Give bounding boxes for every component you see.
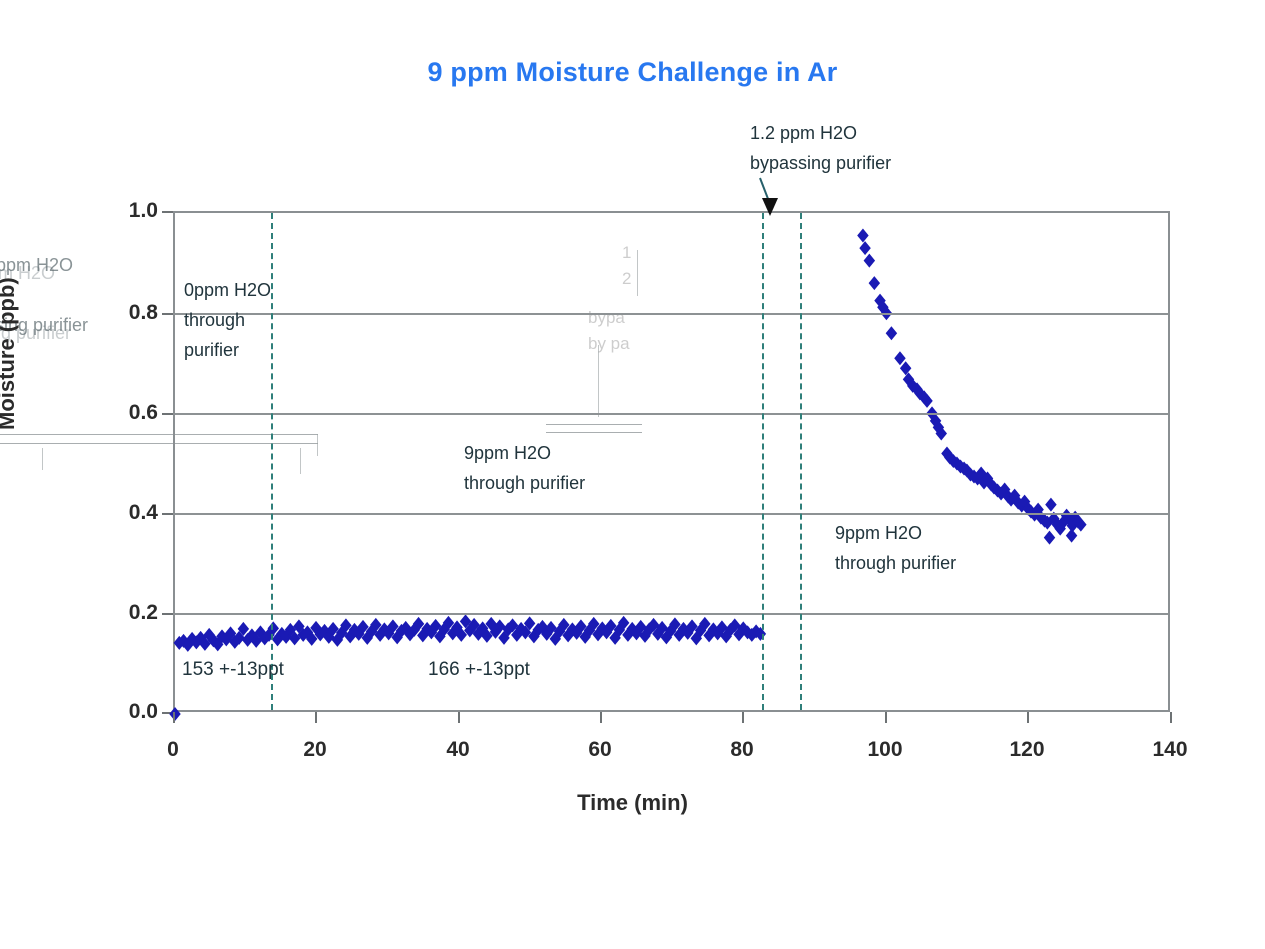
y-tick-mark-0-8 xyxy=(162,313,173,315)
y-tick-label-0-6: 0.6 xyxy=(88,401,158,425)
x-tick-label-120: 120 xyxy=(992,738,1062,762)
y-tick-label-0-4: 0.4 xyxy=(88,501,158,525)
x-tick-mark-20 xyxy=(315,712,317,723)
annotation-stat-153ppt: 153 +-13ppt xyxy=(182,659,284,681)
gridline-0-4 xyxy=(175,513,1168,515)
gridline-0-2 xyxy=(175,613,1168,615)
x-tick-label-140: 140 xyxy=(1135,738,1205,762)
x-tick-mark-100 xyxy=(885,712,887,723)
annotation-0ppm-through-purifier: 0ppm H2O through purifier xyxy=(184,275,271,365)
x-tick-mark-140 xyxy=(1170,712,1172,723)
gridline-0-6 xyxy=(175,413,1168,415)
y-tick-mark-0-2 xyxy=(162,613,173,615)
bypass-pointer-arrow xyxy=(752,178,812,218)
artifact-vline-left2 xyxy=(42,448,43,470)
chart-container: 9 ppm Moisture Challenge in Ar 2ppm H2O … xyxy=(0,0,1265,949)
y-tick-label-0-2: 0.2 xyxy=(88,601,158,625)
gridline-0-8 xyxy=(175,313,1168,315)
x-tick-label-0: 0 xyxy=(138,738,208,762)
x-tick-label-100: 100 xyxy=(850,738,920,762)
annotation-bypass-purifier: 1.2 ppm H2O bypassing purifier xyxy=(750,118,891,178)
x-tick-mark-120 xyxy=(1027,712,1029,723)
scatter-points-layer xyxy=(175,213,1172,714)
annotation-9ppm-through-purifier-right: 9ppm H2O through purifier xyxy=(835,518,956,578)
page-title: 9 ppm Moisture Challenge in Ar xyxy=(0,57,1265,88)
annotation-9ppm-through-purifier-mid: 9ppm H2O through purifier xyxy=(464,438,585,498)
x-tick-mark-60 xyxy=(600,712,602,723)
x-axis-title: Time (min) xyxy=(0,790,1265,816)
y-tick-mark-1-0 xyxy=(162,211,173,213)
y-tick-label-1-0: 1.0 xyxy=(88,199,158,223)
event-vline-88min xyxy=(800,213,802,710)
y-tick-label-0-8: 0.8 xyxy=(88,301,158,325)
event-vline-82min xyxy=(762,213,764,710)
event-vline-13min xyxy=(271,213,273,710)
x-tick-label-60: 60 xyxy=(565,738,635,762)
plot-area xyxy=(173,211,1170,712)
y-tick-mark-0-4 xyxy=(162,513,173,515)
x-tick-mark-40 xyxy=(458,712,460,723)
y-tick-mark-0-6 xyxy=(162,413,173,415)
y-axis-title: Moisture (ppb) xyxy=(0,277,20,430)
x-tick-label-80: 80 xyxy=(707,738,777,762)
x-tick-label-40: 40 xyxy=(423,738,493,762)
x-tick-label-20: 20 xyxy=(280,738,350,762)
y-tick-label-0-0: 0.0 xyxy=(88,700,158,724)
x-tick-mark-80 xyxy=(742,712,744,723)
x-tick-mark-0 xyxy=(173,712,175,723)
annotation-stat-166ppt: 166 +-13ppt xyxy=(428,659,530,681)
